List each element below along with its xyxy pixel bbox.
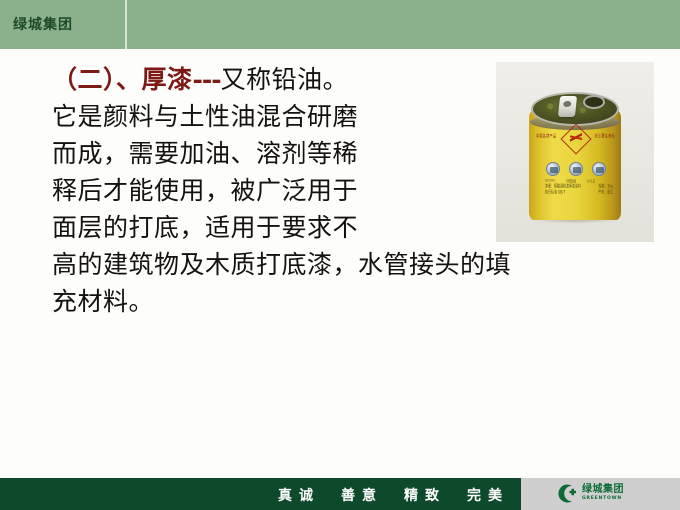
badge-caption: ET认证 xyxy=(587,178,595,184)
footer-brand-logo: 绿城集团 GREENTOWN xyxy=(556,483,624,504)
certification-badge-icon xyxy=(569,162,583,176)
can-brand-logo-flame-icon xyxy=(570,132,582,144)
header-brand-title: 绿城集团 xyxy=(13,15,73,35)
header-band: 绿城集团 xyxy=(0,0,680,49)
certification-badge-icon xyxy=(592,162,606,176)
header-divider xyxy=(125,0,127,49)
can-spout-cap xyxy=(558,96,577,117)
slide-canvas: 绿城集团 （二）、厚漆---又称铅油。 它是颜料与土性油混合研磨 而成，需要加油… xyxy=(0,0,680,510)
text-line-6: 高的建筑物及木质打底漆，水管接头的填 xyxy=(52,246,652,283)
can-spout-hole xyxy=(563,101,572,107)
footer-logo-en: GREENTOWN xyxy=(582,497,624,502)
content-area: （二）、厚漆---又称铅油。 它是颜料与土性油混合研磨 而成，需要加油、溶剂等稀… xyxy=(0,49,680,478)
footer-green-band: 真诚 善意 精致 完美 xyxy=(0,478,521,510)
can-label-bottom-left: 净重：醇酸调和漆厚漆涂料 执行标准 GB/T xyxy=(545,183,581,195)
can-label-left-text: 中国名牌产品 xyxy=(536,133,556,139)
can-label-bottom-right: 规格：5kg 产地：浙江 xyxy=(598,183,613,195)
can-pour-opening xyxy=(583,95,605,109)
can-label-right-text: 浙江著名商标 xyxy=(595,133,615,139)
footer-logo-cn: 绿城集团 xyxy=(582,485,624,495)
certification-badge-icon xyxy=(546,162,560,176)
can-certification-badges xyxy=(546,162,606,178)
heading-rest: 又称铅油。 xyxy=(221,65,349,94)
heading-dashes: --- xyxy=(193,65,221,94)
text-line-7: 充材料。 xyxy=(52,283,652,320)
footer-logo-text: 绿城集团 GREENTOWN xyxy=(582,485,624,502)
product-photo: 中国名牌产品 浙江著名商标 ISO9001 中国质量 ET认证 净重：醇酸调和漆… xyxy=(496,62,654,242)
footer-slogan: 真诚 善意 精致 完美 xyxy=(278,485,509,505)
paint-can-illustration: 中国名牌产品 浙江著名商标 ISO9001 中国质量 ET认证 净重：醇酸调和漆… xyxy=(529,84,621,224)
heading-accent: （二）、厚漆 xyxy=(52,65,193,94)
greentown-crescent-icon xyxy=(556,483,577,504)
footer-logo-band: 绿城集团 GREENTOWN xyxy=(521,478,680,510)
